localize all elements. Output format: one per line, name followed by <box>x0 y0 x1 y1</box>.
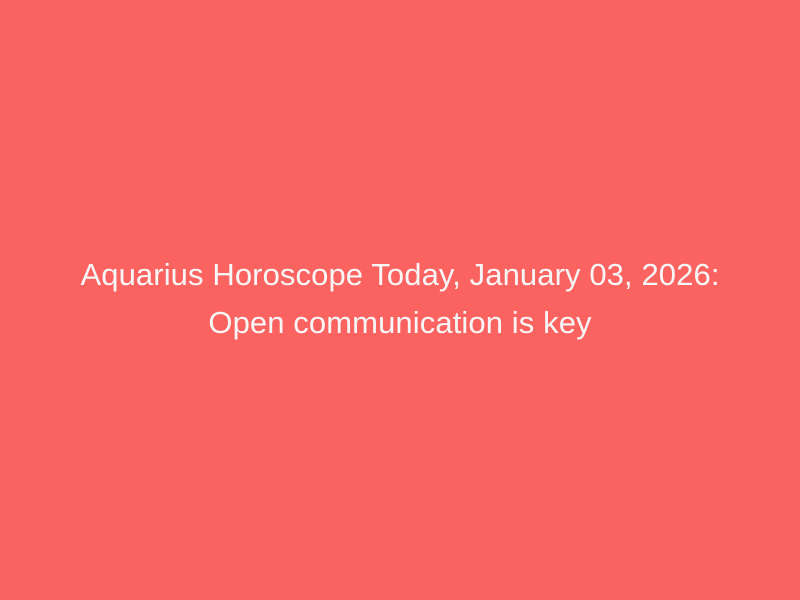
headline-block: Aquarius Horoscope Today, January 03, 20… <box>40 251 760 347</box>
page-title: Aquarius Horoscope Today, January 03, 20… <box>40 251 760 347</box>
headline-line-1: Aquarius Horoscope Today, January 03, 20… <box>40 251 760 299</box>
horoscope-share-card: Aquarius Horoscope Today, January 03, 20… <box>0 0 800 600</box>
headline-line-2: Open communication is key <box>40 299 760 347</box>
